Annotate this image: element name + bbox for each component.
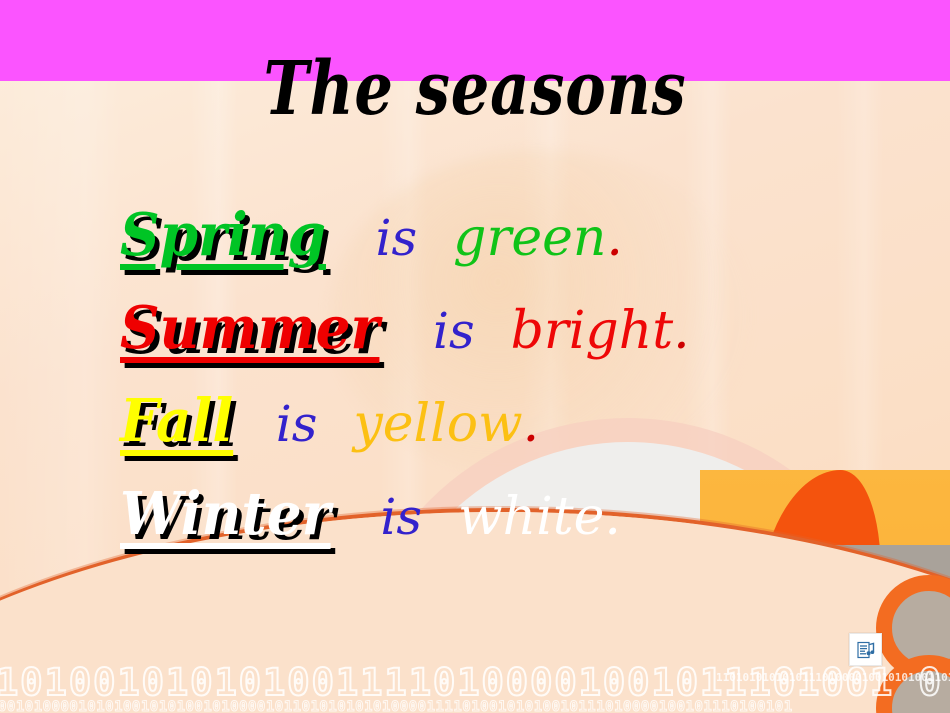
verb-word-fall: is <box>276 399 318 449</box>
slide-canvas: 1010010101010011110100001001011101001 0 … <box>0 0 950 713</box>
verse-list: Spring is green. Summer is bright. Fall … <box>0 205 950 577</box>
verb-word-winter: is <box>380 492 422 542</box>
period-winter: . <box>604 491 621 543</box>
verse-line-fall: Fall is yellow. <box>0 391 950 484</box>
season-word-spring: Spring <box>120 205 326 264</box>
document-music-note-icon[interactable] <box>849 633 882 666</box>
slide-title: The seasons <box>86 52 865 126</box>
verb-word-spring: is <box>376 213 418 263</box>
adjective-word-bright: bright <box>511 305 673 357</box>
period-summer: . <box>673 305 690 357</box>
binary-strip-small-top: 110101010101011101000010010101001101001 <box>716 672 950 683</box>
verse-line-summer: Summer is bright. <box>0 298 950 391</box>
period-fall: . <box>523 398 540 450</box>
adjective-word-green: green <box>453 212 606 264</box>
adjective-word-white: white <box>458 491 604 543</box>
orange-donut-bottom <box>876 655 950 713</box>
verb-word-summer: is <box>433 306 475 356</box>
season-word-winter: Winter <box>120 484 331 543</box>
season-word-summer: Summer <box>120 298 379 357</box>
binary-strip-small-bottom: 0010100001010100101010010100001011010101… <box>0 700 793 713</box>
orange-donut-top <box>876 575 950 681</box>
binary-strip-large: 1010010101010011110100001001011101001 0 <box>0 664 943 701</box>
adjective-word-yellow: yellow <box>353 398 522 450</box>
verse-line-winter: Winter is white. <box>0 484 950 577</box>
season-word-fall: Fall <box>120 391 233 450</box>
verse-line-spring: Spring is green. <box>0 205 950 298</box>
period-spring: . <box>606 212 623 264</box>
